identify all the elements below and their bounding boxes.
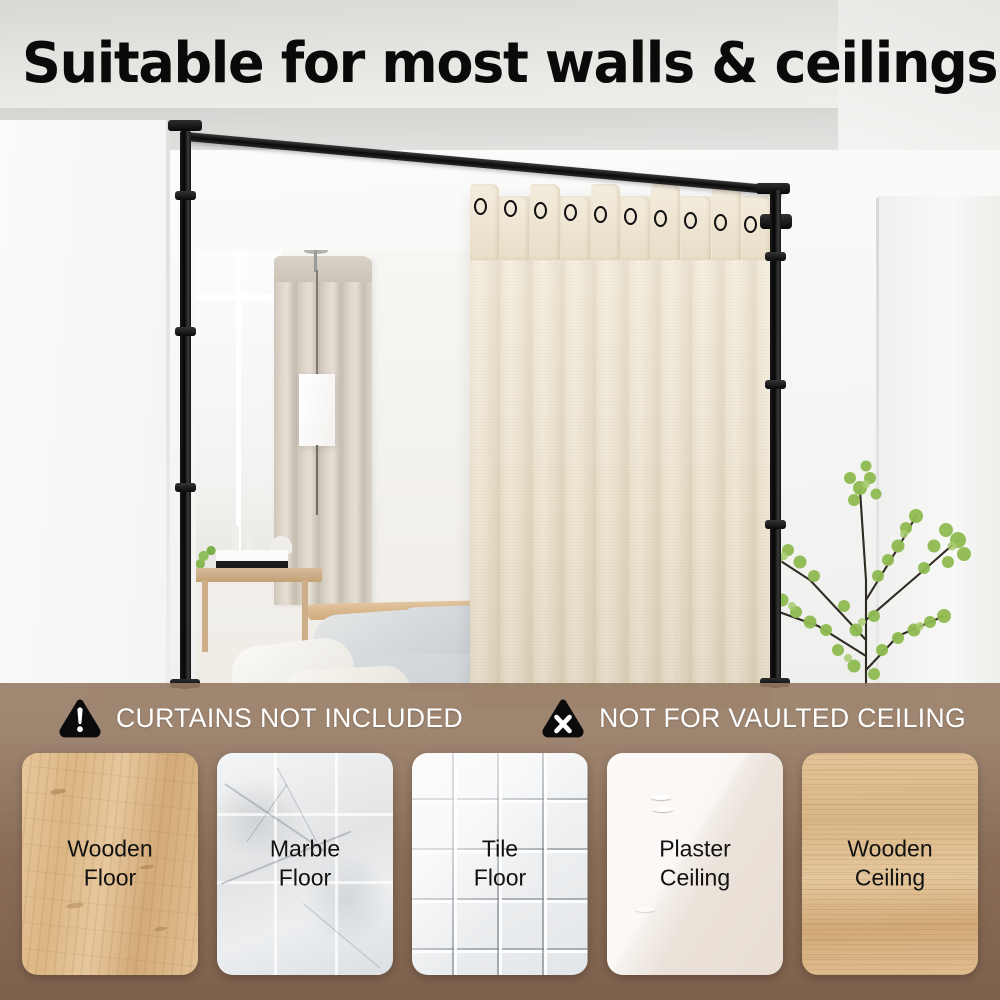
- notice-curtains-not-included: CURTAINS NOT INCLUDED: [58, 698, 463, 738]
- surface-card-label: Wooden Ceiling: [802, 835, 978, 894]
- surface-card-label-line1: Marble: [223, 835, 387, 864]
- curtain-ring: [594, 206, 607, 223]
- surface-card-label: Wooden Floor: [22, 835, 198, 894]
- notice-label: NOT FOR VAULTED CEILING: [599, 703, 966, 734]
- supported-surfaces-card-row: Wooden Floor Marble Floor Tile: [22, 753, 978, 975]
- page-title: Suitable for most walls & ceilings: [22, 36, 948, 92]
- pole-joint: [175, 483, 196, 492]
- curtain-ring: [564, 204, 577, 221]
- curtain-ring: [504, 200, 517, 217]
- curtain-ring: [714, 214, 727, 231]
- notice-label: CURTAINS NOT INCLUDED: [116, 703, 463, 734]
- pole-joint: [765, 380, 786, 389]
- pendant-lamp-shade: [299, 374, 335, 446]
- bedroom-drape-header: [274, 256, 372, 282]
- curtain-ring: [534, 202, 547, 219]
- surface-card-label-line1: Wooden: [808, 835, 972, 864]
- plaster-trowel-mark: [651, 795, 671, 800]
- books-stack: [216, 550, 288, 570]
- product-marketing-image: Suitable for most walls & ceilings CURTA…: [0, 0, 1000, 1000]
- wood-knot: [154, 926, 167, 932]
- surface-card-wooden-ceiling: Wooden Ceiling: [802, 753, 978, 975]
- left-wall: [0, 120, 170, 710]
- curtain-ring: [654, 210, 667, 227]
- surface-card-label-line2: Floor: [28, 864, 192, 893]
- surface-card-label: Tile Floor: [412, 835, 588, 894]
- surface-card-plaster-ceiling: Plaster Ceiling: [607, 753, 783, 975]
- pendant-cord: [316, 270, 318, 375]
- prohibited-x-triangle-icon: [541, 698, 585, 738]
- surface-card-label-line2: Ceiling: [613, 864, 777, 893]
- notice-row: CURTAINS NOT INCLUDED NOT FOR VAULTED CE…: [0, 693, 1000, 743]
- curtain-ring: [474, 198, 487, 215]
- left-wall-edge: [166, 120, 170, 710]
- wood-knot: [66, 902, 84, 909]
- curtain-rings: [472, 196, 772, 222]
- surface-card-label-line1: Tile: [418, 835, 582, 864]
- surface-card-tile-floor: Tile Floor: [412, 753, 588, 975]
- surface-card-label: Marble Floor: [217, 835, 393, 894]
- pole-joint: [175, 191, 196, 200]
- surface-card-label-line2: Ceiling: [808, 864, 972, 893]
- curtain-ring: [684, 212, 697, 229]
- left-tension-pole: [180, 131, 191, 689]
- plaster-trowel-mark: [653, 807, 673, 812]
- left-pole-ceiling-cap: [168, 120, 202, 131]
- wood-knot: [50, 788, 67, 795]
- curtain-ring: [744, 216, 757, 233]
- warning-exclamation-triangle-icon: [58, 698, 102, 738]
- curtain-shading: [470, 196, 772, 708]
- pole-joint: [765, 520, 786, 529]
- surface-card-label: Plaster Ceiling: [607, 835, 783, 894]
- surface-card-label-line2: Floor: [223, 864, 387, 893]
- surface-card-label-line1: Wooden: [28, 835, 192, 864]
- cream-curtain-panel: [470, 196, 772, 708]
- pendant-stem: [314, 250, 317, 272]
- notice-not-for-vaulted-ceiling: NOT FOR VAULTED CEILING: [541, 698, 966, 738]
- bedroom-background: [196, 250, 496, 690]
- surface-card-wooden-floor: Wooden Floor: [22, 753, 198, 975]
- pole-joint: [765, 252, 786, 261]
- surface-card-label-line2: Floor: [418, 864, 582, 893]
- curtain-ring: [624, 208, 637, 225]
- potted-plant: [748, 430, 978, 686]
- pole-joint: [175, 327, 196, 336]
- bench-leg-left: [202, 580, 208, 652]
- surface-card-marble-floor: Marble Floor: [217, 753, 393, 975]
- surface-card-label-line1: Plaster: [613, 835, 777, 864]
- right-tension-pole: [770, 190, 781, 688]
- pendant-cord-lower: [316, 445, 318, 515]
- plaster-trowel-mark: [635, 907, 655, 912]
